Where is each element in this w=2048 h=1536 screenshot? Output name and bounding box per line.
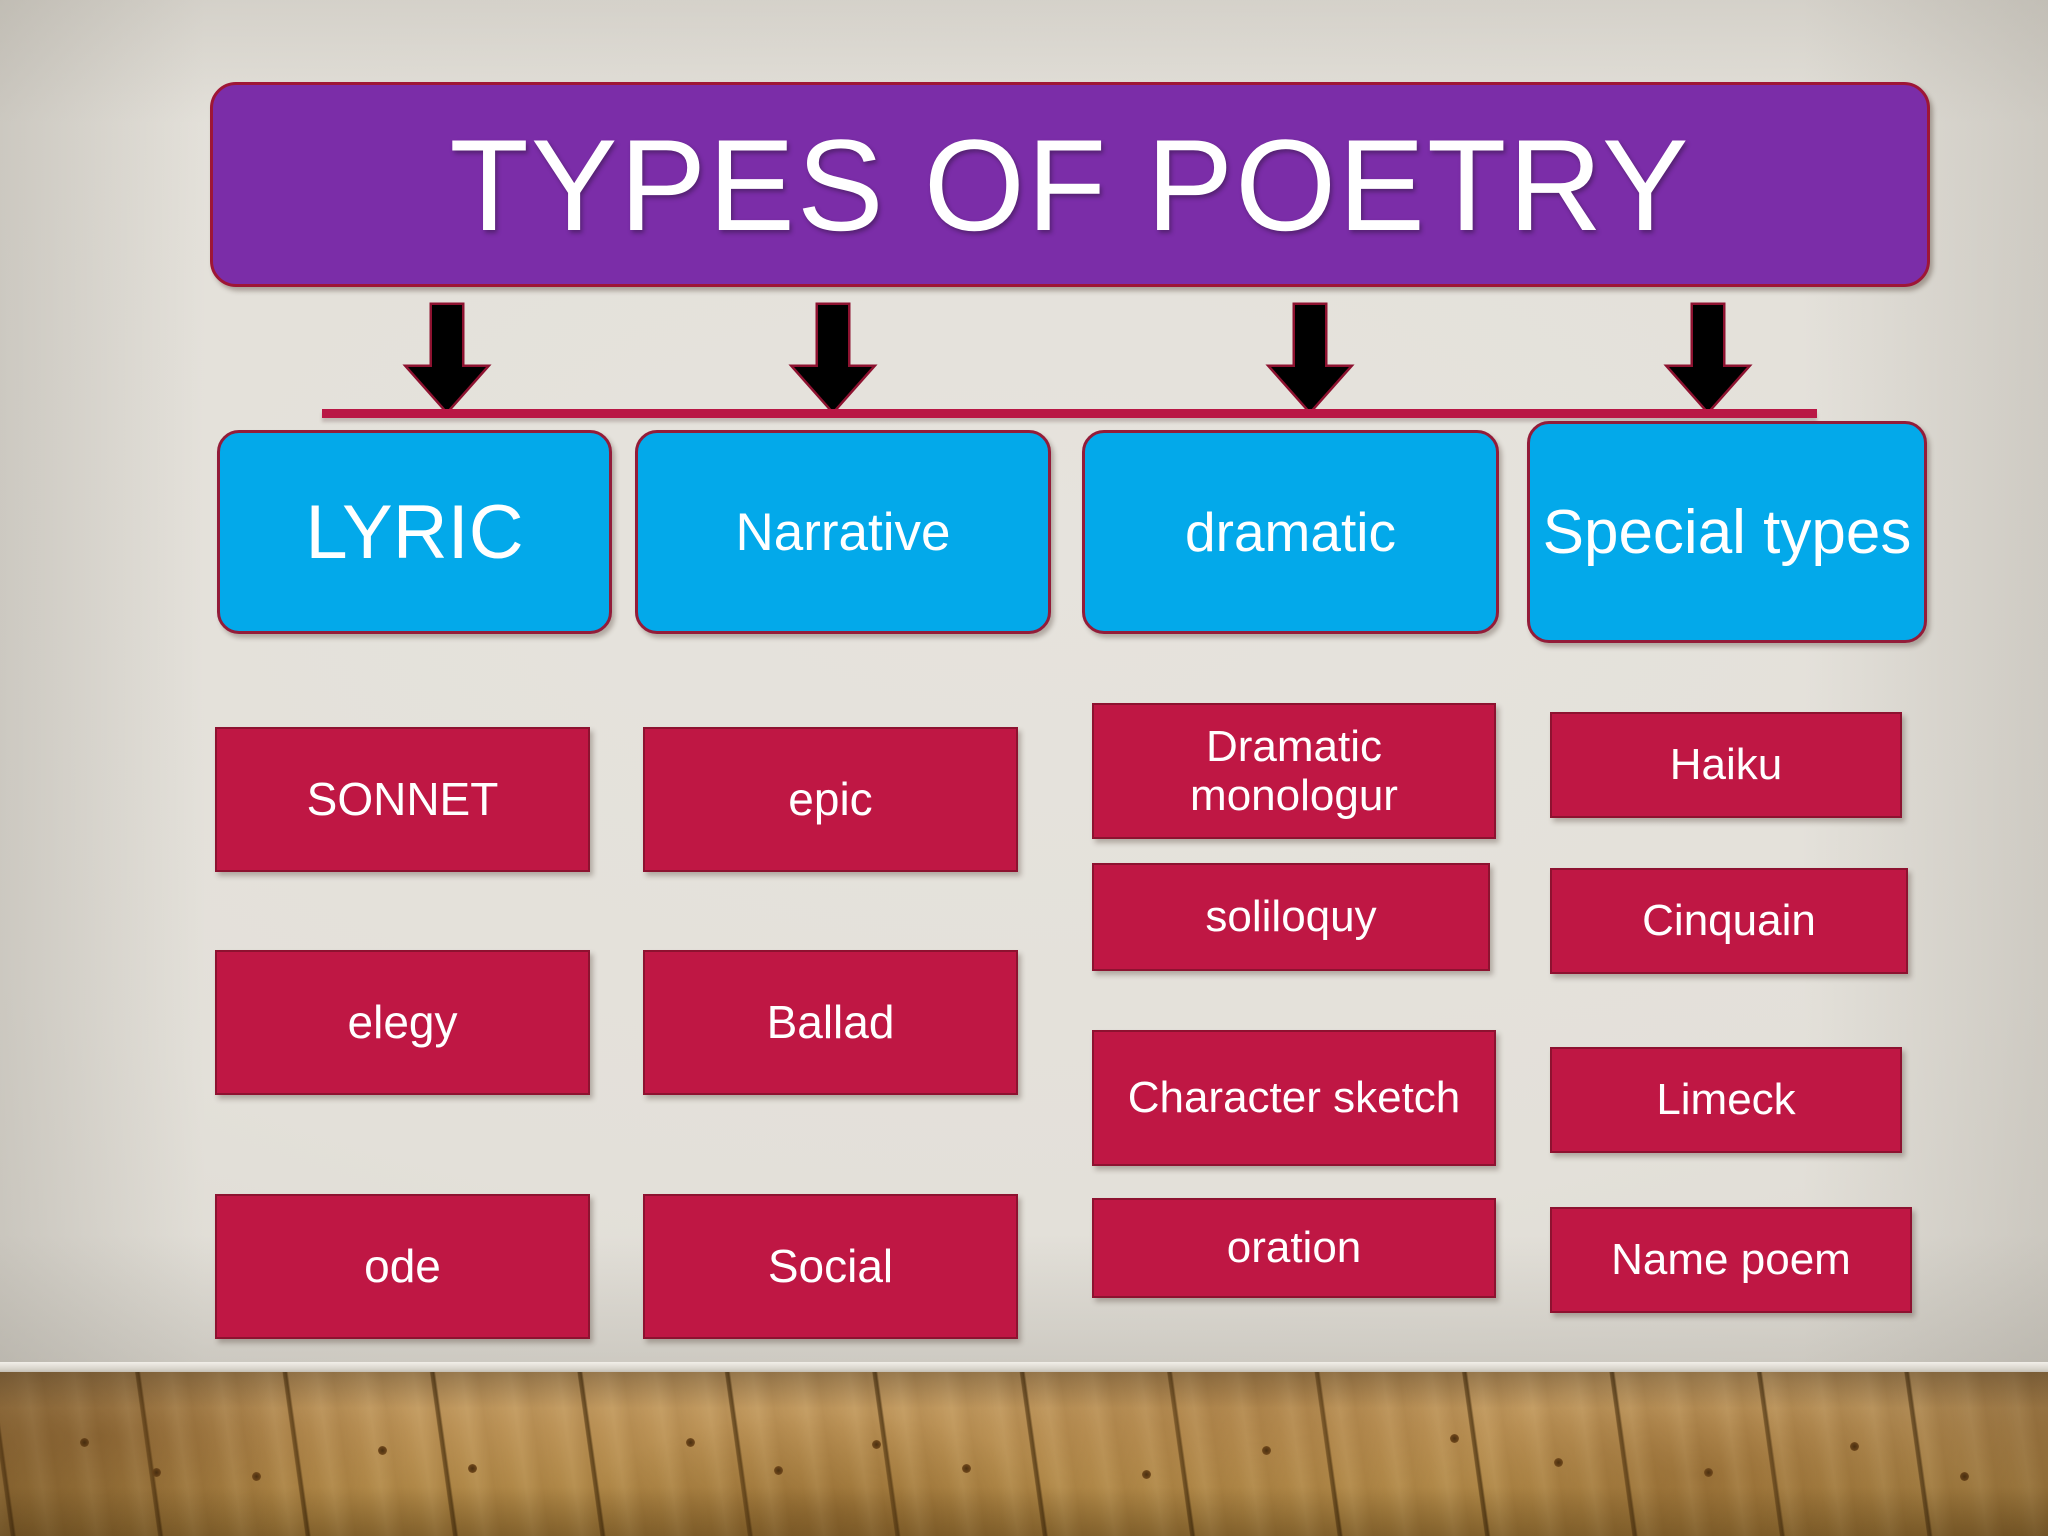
leaf-epic-label: epic [788,774,872,826]
arrow-to-narrative [790,305,876,415]
leaf-sonnet-label: SONNET [307,774,499,826]
leaf-haiku-label: Haiku [1670,740,1783,789]
leaf-social[interactable]: Social [643,1194,1018,1339]
leaf-ballad[interactable]: Ballad [643,950,1018,1095]
floor-shading [0,1372,2048,1536]
leaf-soliloquy-label: soliloquy [1205,892,1376,941]
leaf-epic[interactable]: epic [643,727,1018,872]
leaf-name-poem-label: Name poem [1611,1235,1851,1284]
category-special-types-label: Special types [1543,497,1912,568]
leaf-social-label: Social [768,1241,893,1293]
category-dramatic[interactable]: dramatic [1082,430,1499,634]
leaf-elegy[interactable]: elegy [215,950,590,1095]
leaf-elegy-label: elegy [348,997,458,1049]
category-special-types[interactable]: Special types [1527,421,1927,643]
leaf-ballad-label: Ballad [767,997,895,1049]
leaf-sonnet[interactable]: SONNET [215,727,590,872]
slide-title: TYPES OF POETRY [449,120,1690,250]
leaf-dramatic-monologur[interactable]: Dramatic monologur [1092,703,1496,839]
arrow-to-dramatic [1267,305,1353,415]
leaf-limeck[interactable]: Limeck [1550,1047,1902,1153]
poetry-types-slide: TYPES OF POETRY LYRIC Narrative dra [0,0,2048,1536]
leaf-oration-label: oration [1227,1223,1362,1272]
leaf-limeck-label: Limeck [1656,1075,1795,1124]
category-narrative-label: Narrative [735,502,950,563]
leaf-oration[interactable]: oration [1092,1198,1496,1298]
leaf-cinquain[interactable]: Cinquain [1550,868,1908,974]
slide-title-banner: TYPES OF POETRY [210,82,1930,287]
arrow-to-special-types [1665,305,1751,415]
leaf-character-sketch-label: Character sketch [1128,1073,1461,1122]
leaf-dramatic-monologur-label: Dramatic monologur [1102,722,1486,821]
leaf-name-poem[interactable]: Name poem [1550,1207,1912,1313]
leaf-haiku[interactable]: Haiku [1550,712,1902,818]
category-lyric[interactable]: LYRIC [217,430,612,634]
leaf-soliloquy[interactable]: soliloquy [1092,863,1490,971]
category-lyric-label: LYRIC [305,489,523,576]
leaf-ode-label: ode [364,1241,441,1293]
leaf-ode[interactable]: ode [215,1194,590,1339]
category-narrative[interactable]: Narrative [635,430,1051,634]
wooden-floor [0,1372,2048,1536]
leaf-character-sketch[interactable]: Character sketch [1092,1030,1496,1166]
category-dramatic-label: dramatic [1185,500,1396,564]
leaf-cinquain-label: Cinquain [1642,896,1816,945]
arrow-to-lyric [404,305,490,415]
divider-line [322,409,1817,418]
